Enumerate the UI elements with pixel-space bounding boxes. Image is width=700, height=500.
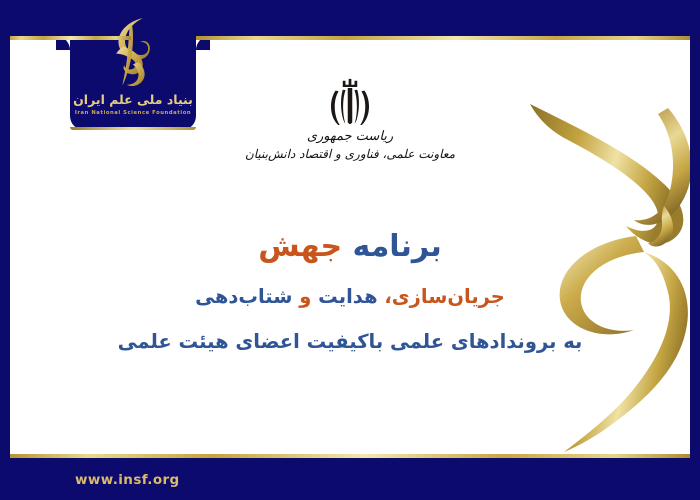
gold-divider-top-left: [6, 36, 131, 40]
subtitle-1-part-1: جریان‌سازی،: [384, 285, 504, 308]
subtitle-1-part-4: شتاب‌دهی: [195, 285, 292, 308]
insf-logo-tab: بنیاد ملی علم ایران Iran National Scienc…: [70, 0, 196, 130]
subtitle-1-part-2: هدایت: [318, 285, 377, 308]
right-navy-border: [690, 0, 700, 500]
program-subtitle-line-2: به برونداد‌های علمی باکیفیت اعضای هیئت ع…: [18, 329, 682, 354]
program-subtitle-line-1: جریان‌سازی، هدایت و شتاب‌دهی: [18, 284, 682, 309]
subtitle-1-part-3: و: [299, 285, 311, 308]
headline-block: برنامه جهش جریان‌سازی، هدایت و شتاب‌دهی …: [18, 228, 682, 354]
insf-logo-name-fa: بنیاد ملی علم ایران: [70, 92, 196, 107]
left-navy-border: [0, 0, 10, 500]
insf-logo-name-en: Iran National Science Foundation: [70, 110, 196, 116]
emblem-caption-line-1: ریاست جمهوری: [0, 129, 700, 144]
program-title-accent: جهش: [258, 229, 342, 264]
footer-website-url[interactable]: www.insf.org: [75, 472, 180, 488]
iran-national-emblem-icon: [321, 78, 379, 125]
program-title: برنامه جهش: [18, 228, 682, 266]
program-title-lead: برنامه: [353, 229, 442, 264]
gold-divider-top-right: [196, 36, 696, 40]
emblem-caption-line-2: معاونت علمی، فناوری و اقتصاد دانش‌بنیان: [0, 147, 700, 161]
insf-monogram-logo-icon: [70, 8, 196, 94]
poster-canvas: بنیاد ملی علم ایران Iran National Scienc…: [0, 0, 700, 500]
